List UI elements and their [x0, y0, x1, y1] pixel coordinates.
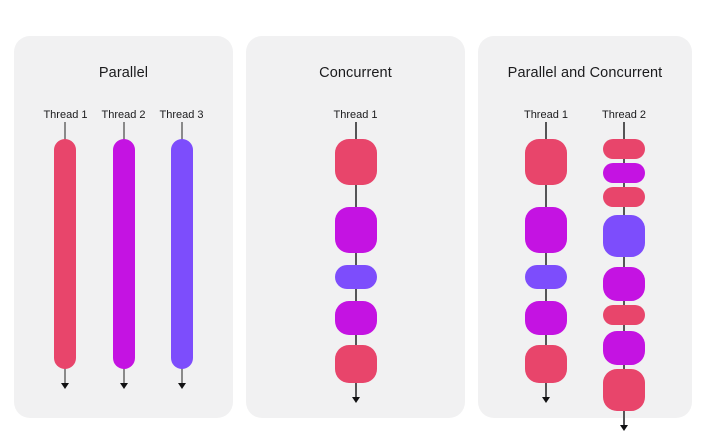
- task-block-red: [525, 139, 567, 185]
- task-block-red: [603, 139, 645, 159]
- task-block-violet: [525, 265, 567, 289]
- thread-label: Thread 1: [43, 110, 87, 122]
- thread-label: Thread 2: [101, 110, 145, 122]
- task-blocks: [113, 139, 135, 369]
- task-blocks: [54, 139, 76, 369]
- thread-timeline: [525, 122, 567, 383]
- panel-title: Parallel and Concurrent: [478, 66, 692, 81]
- thread-column: Thread 2: [602, 110, 646, 418]
- thread-arrow-icon: [352, 397, 360, 403]
- task-block-magenta: [525, 207, 567, 253]
- thread-column: Thread 1: [524, 110, 568, 418]
- task-gap: [355, 253, 356, 265]
- thread-column: Thread 3: [160, 110, 204, 418]
- task-block-red: [525, 345, 567, 383]
- thread-column: Thread 1: [43, 110, 87, 418]
- task-gap: [545, 253, 546, 265]
- thread-timeline: [335, 122, 377, 383]
- thread-label: Thread 1: [524, 110, 568, 122]
- task-block-magenta: [335, 207, 377, 253]
- task-block-red: [603, 187, 645, 207]
- thread-arrow-icon: [178, 383, 186, 389]
- task-blocks: [603, 139, 645, 411]
- task-block-red: [335, 139, 377, 185]
- task-block-red: [54, 139, 76, 369]
- panel-parallel: ParallelThread 1Thread 2Thread 3: [14, 36, 233, 418]
- task-block-red: [603, 369, 645, 411]
- thread-arrow-icon: [620, 425, 628, 431]
- task-block-magenta: [603, 163, 645, 183]
- thread-label: Thread 3: [160, 110, 204, 122]
- thread-label: Thread 1: [333, 110, 377, 122]
- task-gap: [355, 289, 356, 301]
- thread-timeline: [171, 122, 193, 369]
- task-block-violet: [335, 265, 377, 289]
- task-gap: [545, 185, 546, 207]
- thread-group: Thread 1Thread 2: [478, 110, 692, 418]
- panel-concurrent: ConcurrentThread 1: [246, 36, 465, 418]
- task-block-magenta: [113, 139, 135, 369]
- task-gap: [545, 289, 546, 301]
- task-blocks: [335, 139, 377, 383]
- thread-group: Thread 1: [246, 110, 465, 418]
- task-gap: [624, 257, 625, 267]
- thread-arrow-icon: [120, 383, 128, 389]
- panel-title: Parallel: [14, 66, 233, 81]
- task-block-magenta: [335, 301, 377, 335]
- task-block-red: [335, 345, 377, 383]
- task-gap: [624, 207, 625, 215]
- task-block-violet: [603, 215, 645, 257]
- task-block-magenta: [603, 331, 645, 365]
- panel-title: Concurrent: [246, 66, 465, 81]
- thread-timeline: [54, 122, 76, 369]
- concurrency-diagram: ParallelThread 1Thread 2Thread 3Concurre…: [0, 0, 706, 444]
- task-block-magenta: [525, 301, 567, 335]
- thread-group: Thread 1Thread 2Thread 3: [14, 110, 233, 418]
- task-gap: [355, 335, 356, 345]
- thread-column: Thread 1: [333, 110, 377, 418]
- thread-column: Thread 2: [101, 110, 145, 418]
- thread-label: Thread 2: [602, 110, 646, 122]
- task-block-magenta: [603, 267, 645, 301]
- task-block-violet: [171, 139, 193, 369]
- task-blocks: [525, 139, 567, 383]
- thread-arrow-icon: [61, 383, 69, 389]
- task-block-red: [603, 305, 645, 325]
- thread-timeline: [603, 122, 645, 411]
- thread-arrow-icon: [542, 397, 550, 403]
- task-blocks: [171, 139, 193, 369]
- panel-parallel-and-concurrent: Parallel and ConcurrentThread 1Thread 2: [478, 36, 692, 418]
- task-gap: [545, 335, 546, 345]
- task-gap: [355, 185, 356, 207]
- thread-timeline: [113, 122, 135, 369]
